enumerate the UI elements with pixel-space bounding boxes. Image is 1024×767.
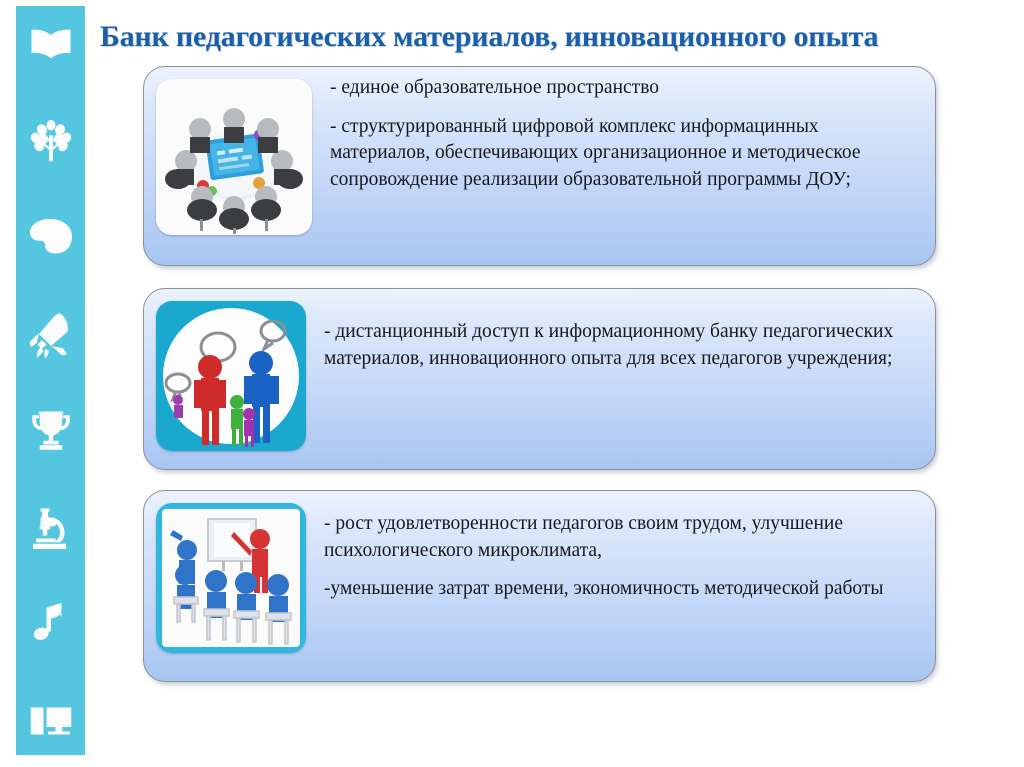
content-panel-1: - единое образовательное пространство - … [143,66,936,266]
thumbnail-artwork [156,301,306,451]
panel-2-paragraph-1: - дистанционный доступ к информационному… [324,319,917,372]
paint-palette-icon [27,213,75,261]
rocket-icon [27,310,75,358]
open-book-icon [27,20,75,68]
classroom-presentation-photo [156,503,306,653]
content-panel-2: - дистанционный доступ к информационному… [143,288,936,470]
content-panel-3: - рост удовлетворенности педагогов своим… [143,490,936,682]
panel-1-text: - единое образовательное пространство - … [312,67,935,201]
slide-root: Банк педагогических материалов, инноваци… [0,0,1024,767]
panel-3-text: - рост удовлетворенности педагогов своим… [306,491,935,611]
thumbnail-artwork [156,79,312,235]
music-note-icon [27,600,75,648]
people-speech-bubbles-photo [156,301,306,451]
sidebar-icon-rail [16,6,85,755]
page-title: Банк педагогических материалов, инноваци… [100,20,1014,54]
tree-icon [27,117,75,165]
thumbnail-artwork [156,503,306,653]
panel-2-text: - дистанционный доступ к информационному… [306,289,935,380]
microscope-icon [27,504,75,552]
panel-3-paragraph-1: - рост удовлетворенности педагогов своим… [324,511,917,564]
trophy-icon [27,407,75,455]
panel-1-paragraph-2: - структурированный цифровой комплекс ин… [330,114,917,194]
desktop-computer-icon [27,697,75,745]
panel-1-paragraph-1: - единое образовательное пространство [330,75,917,102]
panel-3-paragraph-2: -уменьшение затрат времени, экономичност… [324,576,917,603]
round-table-meeting-photo [156,79,312,235]
